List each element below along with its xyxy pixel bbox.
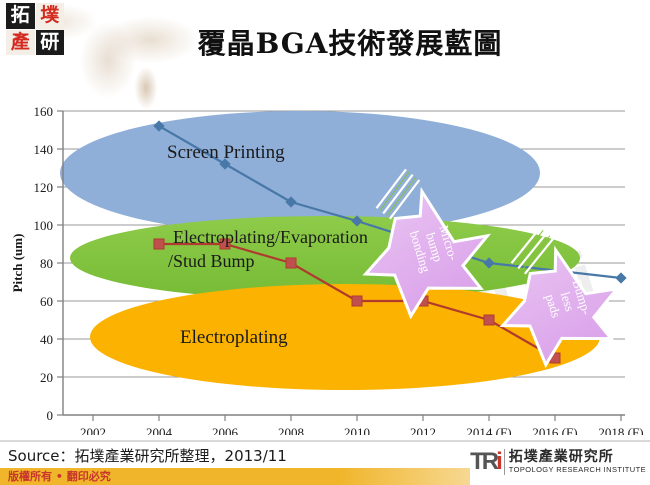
y-tick: 40 — [40, 332, 53, 347]
logo-char-2: 墣 — [36, 3, 65, 29]
tri-name-en: TOPOLOGY RESEARCH INSTITUTE — [509, 466, 646, 474]
x-tick: 2006 — [212, 425, 239, 435]
region-label-electroplating: Electroplating — [180, 327, 288, 348]
region-label-screen-printing: Screen Printing — [167, 142, 285, 163]
y-tick: 120 — [34, 180, 54, 195]
region-label-electroplating-evaporation-line2: /Stud Bump — [168, 251, 255, 271]
x-tick: 2018 (F) — [598, 425, 643, 435]
x-tick: 2016 (F) — [532, 425, 577, 435]
x-tick: 2012 — [410, 425, 436, 435]
x-tick: 2004 — [146, 425, 173, 435]
y-tick: 0 — [47, 408, 54, 423]
x-tick: 2002 — [80, 425, 106, 435]
y-tick: 100 — [34, 218, 54, 233]
logo-char-1: 拓 — [6, 3, 35, 29]
source-note: Source：拓墣產業研究所整理，2013/11 — [8, 445, 287, 466]
x-tick: 2014 (F) — [466, 425, 511, 435]
y-tick: 160 — [34, 104, 54, 119]
y-axis-title: Pitch (um) — [10, 234, 25, 293]
tri-logo-text: 拓墣產業研究所 TOPOLOGY RESEARCH INSTITUTE — [509, 450, 646, 474]
tri-logo-divider — [504, 449, 505, 475]
y-tick: 60 — [40, 294, 53, 309]
logo-char-3: 產 — [6, 30, 35, 56]
roadmap-chart: 160 140 120 100 80 60 40 20 0 Pitch (um)… — [0, 95, 650, 435]
tri-wordmark-i: i — [496, 448, 500, 475]
tri-footer-logo: TRi 拓墣產業研究所 TOPOLOGY RESEARCH INSTITUTE — [470, 445, 646, 479]
x-tick: 2010 — [344, 425, 370, 435]
x-axis-tick-labels: 2002 2004 2006 2008 2010 2012 2014 (F) 2… — [80, 425, 644, 435]
tri-wordmark: TRi — [470, 450, 500, 474]
slide-footer: Source：拓墣產業研究所整理，2013/11 版權所有 • 翻印必究 TRi… — [0, 440, 650, 485]
y-tick: 20 — [40, 370, 53, 385]
logo-char-4: 研 — [36, 30, 65, 56]
chart-svg: 160 140 120 100 80 60 40 20 0 Pitch (um)… — [0, 95, 650, 435]
y-tick: 140 — [34, 142, 54, 157]
page-title: 覆晶BGA技術發展藍圖 — [150, 22, 550, 62]
y-tick: 80 — [40, 256, 53, 271]
x-tick: 2008 — [278, 425, 304, 435]
footer-divider — [0, 440, 650, 442]
region-label-electroplating-evaporation-line1: Electroplating/Evaporation — [173, 227, 368, 247]
slide-canvas: TRi TRi TRi 拓 墣 產 研 覆晶BGA技術發展藍圖 — [0, 0, 650, 485]
copyright-note: 版權所有 • 翻印必究 — [8, 468, 111, 485]
y-axis-tick-labels: 160 140 120 100 80 60 40 20 0 — [34, 104, 54, 423]
tri-corner-logo: 拓 墣 產 研 — [6, 3, 64, 55]
tri-name-cn: 拓墣產業研究所 — [509, 450, 646, 465]
